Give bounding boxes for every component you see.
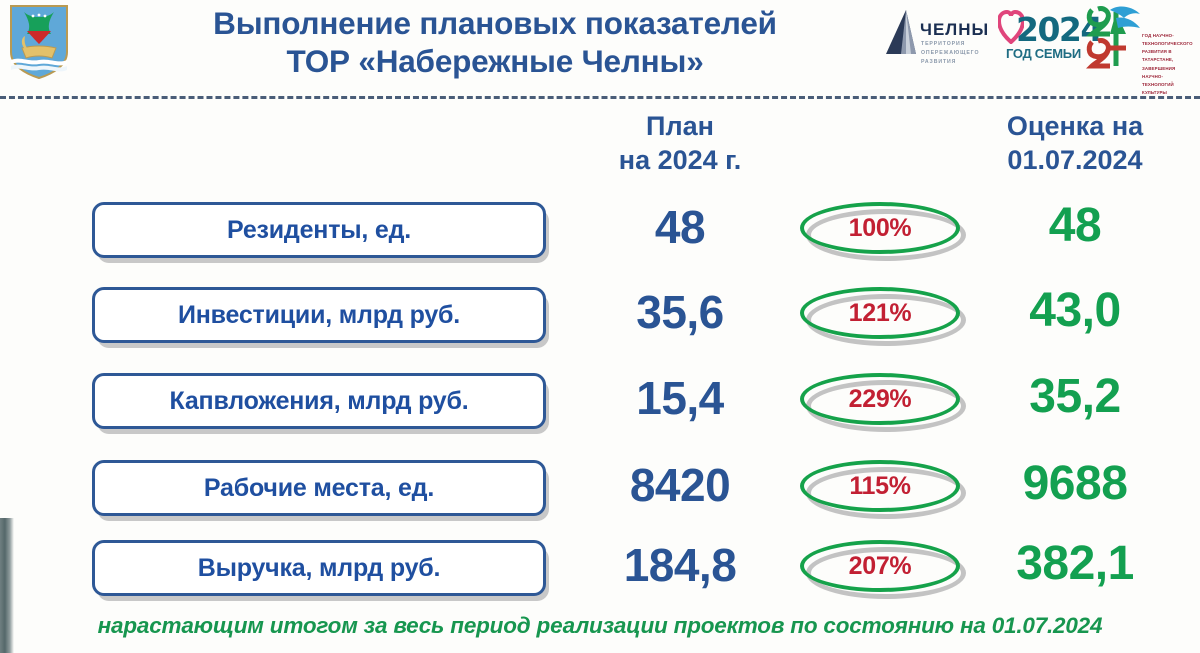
pill-body: Инвестиции, млрд руб. [92, 287, 546, 343]
percent-badge-ring: 121% [800, 287, 960, 339]
column-header-estimate: Оценка на 01.07.2024 [950, 110, 1200, 178]
pill-body: Выручка, млрд руб. [92, 540, 546, 596]
indicator-pill[interactable]: Резиденты, ед. [92, 202, 544, 258]
percent-value: 100% [849, 214, 912, 243]
estimate-value: 9688 [950, 456, 1200, 511]
percent-badge-ring: 229% [800, 373, 960, 425]
percent-badge: 100% [800, 202, 970, 262]
pill-body: Рабочие места, ед. [92, 460, 546, 516]
footer-note: нарастающим итогом за весь период реализ… [0, 613, 1200, 639]
plan-value: 35,6 [570, 285, 790, 339]
percent-badge: 207% [800, 540, 970, 600]
chelny-logo-tagline: ТЕРРИТОРИЯ ОПЕРЕЖАЮЩЕГО РАЗВИТИЯ [921, 40, 999, 67]
percent-badge-ring: 100% [800, 202, 960, 254]
plan-value: 184,8 [570, 538, 790, 592]
science-text-line-1: ГОД НАУЧНО-ТЕХНОЛОГИЧЕСКОГО [1142, 32, 1192, 48]
chelny-sail-logo-icon: ЧЕЛНЫ ТЕРРИТОРИЯ ОПЕРЕЖАЮЩЕГО РАЗВИТИЯ [884, 6, 996, 72]
chelny-tagline-line-2: ОПЕРЕЖАЮЩЕГО [921, 49, 999, 58]
winged-snow-leopard-2024-logo-icon: ГОД НАУЧНО-ТЕХНОЛОГИЧЕСКОГО РАЗВИТИЯ В Т… [1086, 4, 1192, 74]
indicator-label: Резиденты, ед. [227, 216, 411, 245]
title-line-1: Выполнение плановых показателей [120, 4, 870, 42]
percent-badge: 115% [800, 460, 970, 520]
indicator-label: Инвестиции, млрд руб. [178, 301, 460, 330]
column-header-plan: План на 2024 г. [570, 110, 790, 178]
percent-badge-ring: 115% [800, 460, 960, 512]
table-row: Выручка, млрд руб. 184,8 207% 382,1 [0, 532, 1200, 612]
percent-value: 115% [849, 472, 910, 501]
estimate-header-line-1: Оценка на [950, 110, 1200, 144]
slide-header: Выполнение плановых показателей ТОР «Наб… [0, 0, 1200, 94]
indicator-label: Выручка, млрд руб. [198, 554, 441, 583]
indicator-label: Капвложения, млрд руб. [169, 387, 468, 416]
percent-value: 207% [849, 552, 912, 581]
percent-badge-ring: 207% [800, 540, 960, 592]
god-semi-caption: ГОД СЕМЬИ [1006, 46, 1081, 61]
percent-badge: 229% [800, 373, 970, 433]
estimate-value: 48 [950, 198, 1200, 253]
indicator-pill[interactable]: Капвложения, млрд руб. [92, 373, 544, 429]
indicator-pill[interactable]: Выручка, млрд руб. [92, 540, 544, 596]
naberezhnye-chelny-coat-of-arms-icon [8, 4, 70, 80]
estimate-header-line-2: 01.07.2024 [950, 144, 1200, 178]
table-row: Резиденты, ед. 48 100% 48 [0, 194, 1200, 274]
chelny-tagline-line-3: РАЗВИТИЯ [921, 58, 999, 67]
plan-value: 48 [570, 200, 790, 254]
left-edge-artifact [0, 518, 14, 653]
chelny-logo-name: ЧЕЛНЫ [920, 20, 989, 40]
plan-header-line-2: на 2024 г. [570, 144, 790, 178]
percent-value: 121% [849, 299, 912, 328]
estimate-value: 382,1 [950, 536, 1200, 591]
pill-body: Резиденты, ед. [92, 202, 546, 258]
plan-header-line-1: План [570, 110, 790, 144]
pill-body: Капвложения, млрд руб. [92, 373, 546, 429]
science-text-line-3: ЗАВЕРШЕНИЯ НАУЧНО-ТЕХНОЛОГИЙ [1142, 65, 1192, 89]
title-line-2: ТОР «Набережные Челны» [120, 42, 870, 80]
table-row: Инвестиции, млрд руб. 35,6 121% 43,0 [0, 279, 1200, 359]
indicator-pill[interactable]: Инвестиции, млрд руб. [92, 287, 544, 343]
page-title: Выполнение плановых показателей ТОР «Наб… [120, 4, 870, 81]
science-text-line-2: РАЗВИТИЯ В ТАТАРСТАНЕ, [1142, 48, 1192, 64]
estimate-value: 43,0 [950, 283, 1200, 338]
estimate-value: 35,2 [950, 369, 1200, 424]
infographic-slide: Выполнение плановых показателей ТОР «Наб… [0, 0, 1200, 653]
logo-group: ЧЕЛНЫ ТЕРРИТОРИЯ ОПЕРЕЖАЮЩЕГО РАЗВИТИЯ 2… [884, 2, 1194, 82]
indicator-pill[interactable]: Рабочие места, ед. [92, 460, 544, 516]
header-divider [0, 96, 1200, 99]
indicator-label: Рабочие места, ед. [204, 474, 434, 503]
table-row: Капвложения, млрд руб. 15,4 229% 35,2 [0, 365, 1200, 445]
heart-2024-logo-icon: 2024 ГОД СЕМЬИ [998, 8, 1082, 70]
plan-value: 8420 [570, 458, 790, 512]
percent-badge: 121% [800, 287, 970, 347]
table-row: Рабочие места, ед. 8420 115% 9688 [0, 452, 1200, 532]
percent-value: 229% [849, 385, 912, 414]
science-logo-text: ГОД НАУЧНО-ТЕХНОЛОГИЧЕСКОГО РАЗВИТИЯ В Т… [1142, 32, 1192, 97]
plan-value: 15,4 [570, 371, 790, 425]
chelny-tagline-line-1: ТЕРРИТОРИЯ [921, 40, 999, 49]
